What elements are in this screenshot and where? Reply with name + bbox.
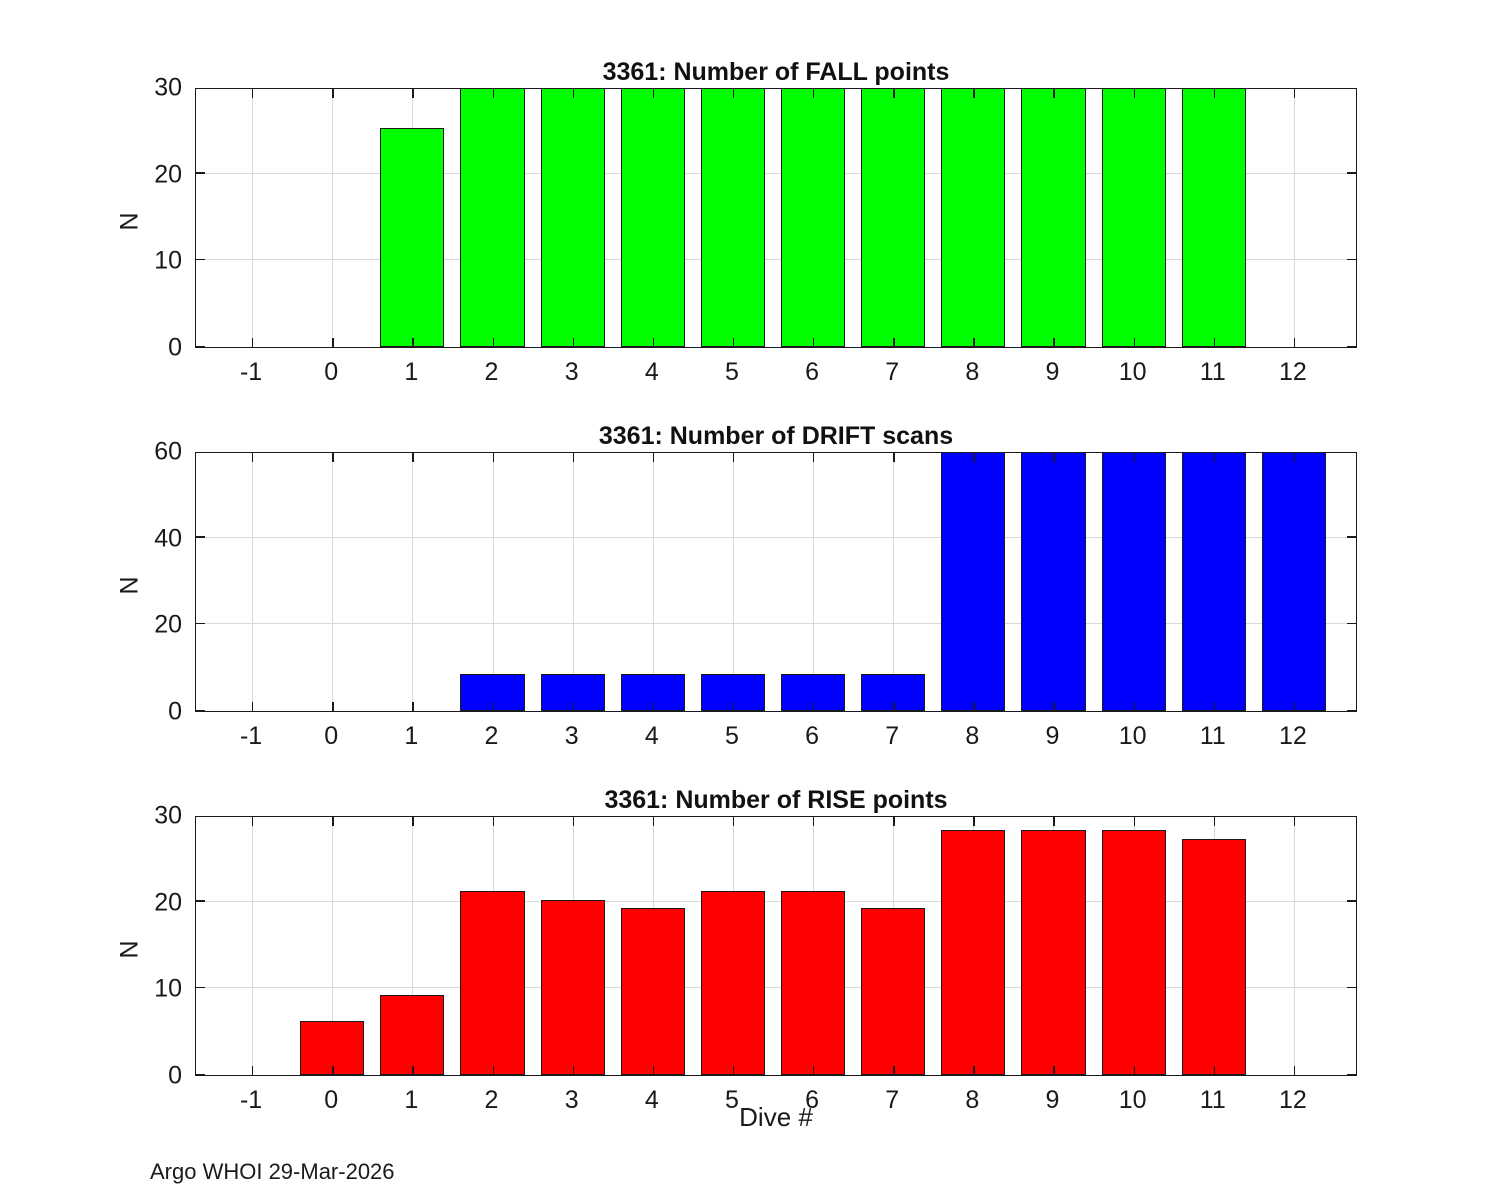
x-tick-mark	[1214, 338, 1215, 347]
x-tick-mark	[893, 89, 894, 98]
x-tick-mark	[573, 89, 574, 98]
bar	[861, 88, 925, 347]
x-tick-label: -1	[240, 1086, 262, 1115]
y-tick-mark	[1347, 623, 1356, 624]
x-tick-label: 3	[565, 1086, 579, 1115]
x-tick-mark	[252, 89, 253, 98]
y-tick-label: 30	[100, 802, 182, 831]
bar	[541, 88, 605, 347]
bar	[941, 830, 1005, 1075]
x-tick-label: 6	[805, 722, 819, 751]
y-tick-mark	[1347, 536, 1356, 537]
bar	[541, 900, 605, 1075]
x-tick-mark	[493, 1066, 494, 1075]
bar	[1182, 88, 1246, 347]
x-tick-label: 8	[965, 1086, 979, 1115]
x-tick-label: 12	[1279, 722, 1307, 751]
x-tick-mark	[1214, 702, 1215, 711]
x-tick-mark	[973, 702, 974, 711]
x-tick-mark	[493, 817, 494, 826]
chart-title-rise: 3361: Number of RISE points	[195, 786, 1357, 815]
y-tick-label: 0	[100, 698, 182, 727]
x-tick-mark	[332, 702, 333, 711]
y-tick-label: 60	[100, 438, 182, 467]
x-tick-label: 5	[725, 358, 739, 387]
x-tick-mark	[1134, 89, 1135, 98]
x-tick-mark	[893, 338, 894, 347]
chart-title-fall: 3361: Number of FALL points	[195, 58, 1357, 87]
x-tick-mark	[1294, 1066, 1295, 1075]
figure-canvas: 3361: Number of FALL points N 3361: Numb…	[0, 0, 1500, 1200]
x-tick-label: 8	[965, 722, 979, 751]
y-tick-label: 20	[100, 611, 182, 640]
x-tick-mark	[573, 702, 574, 711]
y-tick-mark	[1347, 172, 1356, 173]
bar	[1102, 452, 1166, 711]
gridline-vertical	[813, 453, 814, 711]
x-tick-label: 10	[1119, 1086, 1147, 1115]
x-tick-mark	[1134, 338, 1135, 347]
bar	[1021, 830, 1085, 1075]
gridline-vertical	[252, 89, 253, 347]
x-tick-mark	[653, 338, 654, 347]
x-tick-mark	[893, 453, 894, 462]
gridline-vertical	[733, 453, 734, 711]
y-tick-mark	[1347, 259, 1356, 260]
bar	[941, 452, 1005, 711]
y-tick-mark	[196, 536, 205, 537]
x-tick-mark	[332, 453, 333, 462]
y-tick-label: 10	[100, 975, 182, 1004]
x-tick-label: 12	[1279, 1086, 1307, 1115]
x-tick-mark	[573, 1066, 574, 1075]
y-tick-label: 20	[100, 888, 182, 917]
x-tick-mark	[653, 1066, 654, 1075]
bar	[621, 908, 685, 1075]
x-tick-mark	[893, 702, 894, 711]
x-tick-label: 11	[1200, 1086, 1226, 1115]
x-tick-mark	[573, 453, 574, 462]
x-tick-label: 12	[1279, 358, 1307, 387]
y-tick-mark	[196, 259, 205, 260]
x-tick-mark	[252, 702, 253, 711]
x-tick-mark	[1214, 817, 1215, 826]
x-tick-label: -1	[240, 358, 262, 387]
y-tick-mark	[1347, 900, 1356, 901]
x-tick-mark	[813, 89, 814, 98]
bar	[380, 128, 444, 347]
gridline-vertical	[332, 89, 333, 347]
x-tick-mark	[1294, 817, 1295, 826]
axes-drift	[195, 452, 1357, 712]
x-tick-label: 0	[324, 1086, 338, 1115]
x-tick-mark	[653, 702, 654, 711]
x-tick-mark	[893, 1066, 894, 1075]
x-tick-mark	[1053, 1066, 1054, 1075]
y-tick-label: 0	[100, 1062, 182, 1091]
gridline-vertical	[1294, 89, 1295, 347]
x-tick-mark	[733, 1066, 734, 1075]
x-tick-mark	[1214, 453, 1215, 462]
bar	[1102, 88, 1166, 347]
gridline-vertical	[573, 453, 574, 711]
x-tick-label: 9	[1046, 722, 1060, 751]
y-axis-label-fall: N	[116, 202, 145, 242]
x-tick-mark	[332, 817, 333, 826]
y-tick-label: 20	[100, 160, 182, 189]
bar	[1262, 452, 1326, 711]
gridline-vertical	[1294, 817, 1295, 1075]
x-tick-label: 11	[1200, 358, 1226, 387]
x-tick-label: 10	[1119, 722, 1147, 751]
footer-credit: Argo WHOI 29-Mar-2026	[150, 1159, 395, 1185]
x-tick-label: 7	[885, 722, 899, 751]
bar	[781, 891, 845, 1075]
axes-rise	[195, 816, 1357, 1076]
gridline-vertical	[252, 817, 253, 1075]
x-tick-mark	[412, 338, 413, 347]
y-tick-label: 10	[100, 247, 182, 276]
x-tick-label: 2	[485, 358, 499, 387]
bar	[701, 891, 765, 1075]
x-tick-mark	[412, 817, 413, 826]
x-tick-label: 7	[885, 1086, 899, 1115]
x-tick-mark	[493, 89, 494, 98]
x-tick-label: 8	[965, 358, 979, 387]
y-tick-mark	[1347, 346, 1356, 347]
x-tick-mark	[1134, 817, 1135, 826]
bar	[861, 908, 925, 1075]
x-tick-label: 5	[725, 1086, 739, 1115]
x-tick-mark	[573, 338, 574, 347]
gridline-vertical	[493, 453, 494, 711]
x-tick-mark	[1294, 453, 1295, 462]
chart-title-drift: 3361: Number of DRIFT scans	[195, 422, 1357, 451]
x-tick-mark	[813, 338, 814, 347]
x-tick-mark	[332, 338, 333, 347]
x-tick-mark	[1053, 338, 1054, 347]
x-tick-mark	[653, 817, 654, 826]
bar	[1182, 452, 1246, 711]
x-tick-label: 2	[485, 1086, 499, 1115]
x-tick-mark	[252, 453, 253, 462]
x-tick-mark	[1214, 1066, 1215, 1075]
x-tick-mark	[893, 817, 894, 826]
x-tick-mark	[252, 1066, 253, 1075]
x-tick-mark	[733, 453, 734, 462]
x-tick-mark	[412, 702, 413, 711]
x-tick-mark	[653, 89, 654, 98]
x-tick-mark	[1214, 89, 1215, 98]
x-tick-label: 5	[725, 722, 739, 751]
bar	[1021, 88, 1085, 347]
x-tick-label: 4	[645, 358, 659, 387]
x-tick-label: 10	[1119, 358, 1147, 387]
x-tick-mark	[412, 89, 413, 98]
x-tick-mark	[332, 89, 333, 98]
axes-fall	[195, 88, 1357, 348]
x-tick-label: 0	[324, 722, 338, 751]
x-tick-mark	[1134, 453, 1135, 462]
plot-area-fall	[195, 88, 1357, 348]
x-tick-label: 9	[1046, 1086, 1060, 1115]
bar	[1182, 839, 1246, 1075]
bar	[460, 891, 524, 1075]
x-tick-label: 0	[324, 358, 338, 387]
x-tick-mark	[813, 453, 814, 462]
x-tick-mark	[573, 817, 574, 826]
y-tick-mark	[196, 623, 205, 624]
gridline-vertical	[412, 453, 413, 711]
plot-area-drift	[195, 452, 1357, 712]
x-axis-label: Dive #	[195, 1102, 1357, 1133]
bar	[380, 995, 444, 1075]
y-tick-label: 40	[100, 524, 182, 553]
x-tick-mark	[412, 453, 413, 462]
x-tick-label: -1	[240, 722, 262, 751]
x-tick-mark	[1294, 89, 1295, 98]
x-tick-mark	[733, 817, 734, 826]
x-tick-mark	[1294, 338, 1295, 347]
x-tick-label: 7	[885, 358, 899, 387]
bar	[1021, 452, 1085, 711]
x-tick-label: 1	[404, 722, 418, 751]
x-tick-mark	[1053, 453, 1054, 462]
x-tick-mark	[973, 338, 974, 347]
y-tick-label: 30	[100, 74, 182, 103]
bar	[621, 88, 685, 347]
x-tick-mark	[1294, 702, 1295, 711]
x-tick-mark	[493, 338, 494, 347]
x-tick-label: 6	[805, 358, 819, 387]
x-tick-label: 3	[565, 722, 579, 751]
x-tick-label: 1	[404, 1086, 418, 1115]
y-tick-mark	[1347, 987, 1356, 988]
x-tick-label: 6	[805, 1086, 819, 1115]
x-tick-mark	[1134, 1066, 1135, 1075]
x-tick-label: 4	[645, 722, 659, 751]
plot-area-rise	[195, 816, 1357, 1076]
y-tick-mark	[1347, 1074, 1356, 1075]
x-tick-mark	[1053, 702, 1054, 711]
x-tick-mark	[973, 817, 974, 826]
x-tick-mark	[813, 702, 814, 711]
x-tick-mark	[733, 338, 734, 347]
y-tick-mark	[196, 172, 205, 173]
bar	[781, 88, 845, 347]
y-tick-mark	[196, 987, 205, 988]
y-tick-mark	[196, 1074, 205, 1075]
bar	[1102, 830, 1166, 1075]
x-tick-mark	[252, 817, 253, 826]
x-tick-label: 4	[645, 1086, 659, 1115]
bar	[701, 88, 765, 347]
x-tick-mark	[733, 89, 734, 98]
y-tick-mark	[196, 710, 205, 711]
y-tick-mark	[1347, 710, 1356, 711]
x-tick-mark	[813, 1066, 814, 1075]
x-tick-mark	[973, 1066, 974, 1075]
x-tick-label: 1	[404, 358, 418, 387]
bar	[460, 88, 524, 347]
x-tick-label: 9	[1046, 358, 1060, 387]
gridline-vertical	[893, 453, 894, 711]
x-tick-label: 2	[485, 722, 499, 751]
gridline-vertical	[252, 453, 253, 711]
y-tick-mark	[196, 346, 205, 347]
x-tick-mark	[332, 1066, 333, 1075]
x-tick-mark	[252, 338, 253, 347]
x-tick-label: 11	[1200, 722, 1226, 751]
y-axis-label-rise: N	[116, 930, 145, 970]
x-tick-mark	[733, 702, 734, 711]
x-tick-label: 3	[565, 358, 579, 387]
gridline-vertical	[653, 453, 654, 711]
gridline-vertical	[332, 453, 333, 711]
y-tick-mark	[196, 900, 205, 901]
bar	[941, 88, 1005, 347]
x-tick-mark	[1053, 817, 1054, 826]
x-tick-mark	[973, 89, 974, 98]
x-tick-mark	[493, 453, 494, 462]
x-tick-mark	[973, 453, 974, 462]
x-tick-mark	[412, 1066, 413, 1075]
x-tick-mark	[813, 817, 814, 826]
x-tick-mark	[1053, 89, 1054, 98]
x-tick-mark	[493, 702, 494, 711]
y-tick-label: 0	[100, 334, 182, 363]
x-tick-mark	[1134, 702, 1135, 711]
y-axis-label-drift: N	[116, 566, 145, 606]
x-tick-mark	[653, 453, 654, 462]
